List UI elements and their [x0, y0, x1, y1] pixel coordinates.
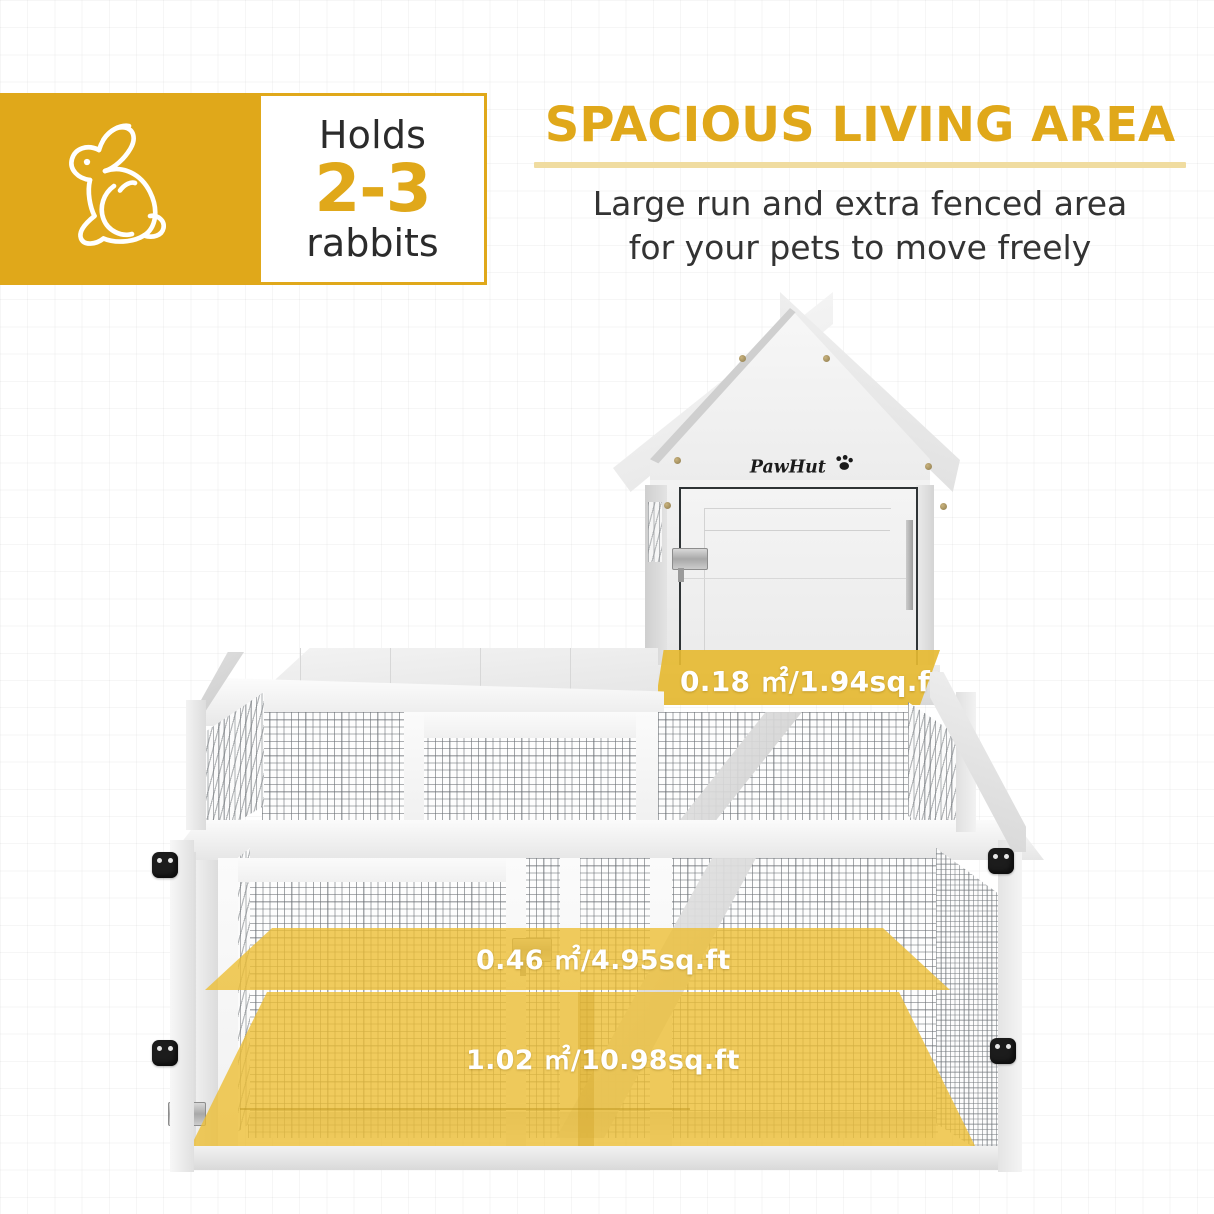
- hutch-door-seam: [704, 530, 890, 531]
- screw-icon: [674, 457, 681, 464]
- hutch-door-hinge: [906, 520, 913, 610]
- badge-unit-label: rabbits: [306, 224, 438, 262]
- run-upper-post-left: [186, 700, 206, 830]
- brand-logo: PawHut: [748, 452, 858, 480]
- capacity-badge: Holds 2-3 rabbits: [0, 93, 487, 285]
- hutch-door-seam: [684, 578, 909, 579]
- run-corner-post-left: [170, 840, 194, 1172]
- badge-icon-cell: [0, 93, 258, 285]
- run-upper-divider-post: [636, 712, 658, 827]
- area-label-lower-run: 1.02 ㎡/10.98sq.ft: [466, 1038, 740, 1077]
- badge-capacity-count: 2-3: [314, 156, 430, 222]
- adjust-knob[interactable]: [152, 1040, 178, 1066]
- lower-run-floor-inner-edge: [240, 1108, 690, 1110]
- hutch-side-vent: [648, 502, 662, 562]
- product-photo: PawHut 0.18 ㎡/1.94sq.ft: [0, 280, 1214, 1180]
- screw-icon: [925, 463, 932, 470]
- badge-text-cell: Holds 2-3 rabbits: [258, 93, 487, 285]
- page-subtitle: Large run and extra fenced area for your…: [520, 182, 1200, 269]
- adjust-knob[interactable]: [152, 852, 178, 878]
- screw-icon: [664, 502, 671, 509]
- run-upper-divider-post: [404, 712, 424, 827]
- infographic-canvas: Holds 2-3 rabbits SPACIOUS LIVING AREA L…: [0, 0, 1214, 1214]
- heading-block: SPACIOUS LIVING AREA Large run and extra…: [520, 100, 1200, 269]
- badge-holds-label: Holds: [319, 116, 426, 154]
- run-front-door-lintel: [238, 858, 506, 882]
- subtitle-line-2: for your pets to move freely: [520, 226, 1200, 270]
- title-divider: [534, 162, 1186, 168]
- run-upper-inner-lintel: [424, 712, 636, 738]
- run-mid-rail: [168, 820, 1044, 860]
- run-base-rail: [178, 1146, 1016, 1170]
- page-title: SPACIOUS LIVING AREA: [520, 100, 1200, 150]
- svg-text:PawHut: PawHut: [749, 457, 826, 477]
- subtitle-line-1: Large run and extra fenced area: [520, 182, 1200, 226]
- area-label-upper-deck: 0.18 ㎡/1.94sq.ft: [680, 660, 944, 700]
- screw-icon: [823, 355, 830, 362]
- rabbit-icon: [54, 114, 204, 264]
- adjust-knob[interactable]: [988, 848, 1014, 874]
- hutch-door-latch[interactable]: [672, 548, 708, 570]
- screw-icon: [739, 355, 746, 362]
- run-corner-post-right: [998, 840, 1022, 1172]
- screw-icon: [940, 503, 947, 510]
- area-label-mid-run: 0.46 ㎡/4.95sq.ft: [476, 938, 731, 977]
- hutch-door-latch-bolt[interactable]: [678, 568, 684, 582]
- adjust-knob[interactable]: [990, 1038, 1016, 1064]
